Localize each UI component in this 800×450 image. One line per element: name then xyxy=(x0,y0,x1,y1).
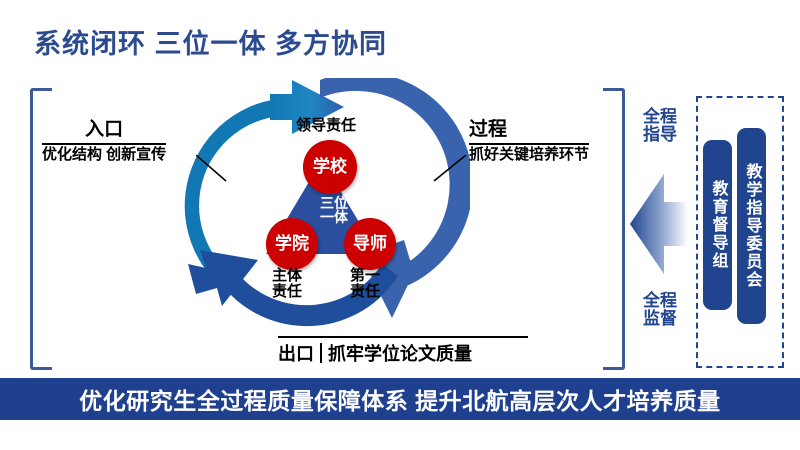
right-bracket xyxy=(603,88,625,370)
node-college[interactable]: 学院 xyxy=(266,218,318,270)
supervision-guidance-line1: 全程 xyxy=(634,108,686,126)
callout-exit-rule xyxy=(278,336,528,338)
node-mentor[interactable]: 导师 xyxy=(344,218,396,270)
callout-process-caption: 过程 xyxy=(469,120,589,141)
supervision-monitoring-line1: 全程 xyxy=(634,292,686,310)
bottom-banner-text: 优化研究生全过程质量保障体系 提升北航高层次人才培养质量 xyxy=(79,382,720,416)
callout-process-leader-line xyxy=(432,155,470,183)
label-subject-responsibility: 主体 责任 xyxy=(272,268,302,300)
callout-exit-divider xyxy=(320,343,322,363)
callout-process: 过程 抓好关键培养环节 xyxy=(469,120,589,163)
label-first-line1: 第一 xyxy=(350,268,380,284)
callout-entrance-caption: 入口 xyxy=(42,120,166,141)
callout-entrance-sub: 优化结构 创新宣传 xyxy=(42,147,166,164)
supervision-left-arrow-icon xyxy=(628,168,690,280)
bottom-banner: 优化研究生全过程质量保障体系 提升北航高层次人才培养质量 xyxy=(0,378,800,420)
page-title: 系统闭环 三位一体 多方协同 xyxy=(34,22,387,61)
triangle-label-line2: 一体 xyxy=(312,210,356,224)
label-subject-line2: 责任 xyxy=(272,284,302,300)
label-leadership-responsibility: 领导责任 xyxy=(296,118,356,134)
slide-canvas: 系统闭环 三位一体 多方协同 xyxy=(0,0,800,450)
node-school[interactable]: 学校 xyxy=(303,140,357,194)
callout-entrance-rule xyxy=(42,143,166,145)
supervision-guidance-line2: 指导 xyxy=(634,126,686,144)
supervision-guidance-label: 全程 指导 xyxy=(634,108,686,145)
label-first-line2: 责任 xyxy=(350,284,380,300)
callout-entrance: 入口 优化结构 创新宣传 xyxy=(42,120,166,163)
callout-exit-caption: 出口 xyxy=(278,340,314,366)
supervision-monitoring-label: 全程 监督 xyxy=(634,292,686,329)
callout-process-sub: 抓好关键培养环节 xyxy=(469,147,589,164)
callout-entrance-leader-line xyxy=(196,155,230,183)
callout-exit: 出口 抓牢学位论文质量 xyxy=(278,336,528,366)
callout-exit-sub: 抓牢学位论文质量 xyxy=(328,340,472,366)
callout-process-rule xyxy=(469,143,589,145)
label-first-responsibility: 第一 责任 xyxy=(350,268,380,300)
triangle-label-line1: 三位 xyxy=(312,196,356,210)
triangle-center-label: 三位 一体 xyxy=(312,196,356,224)
label-subject-line1: 主体 xyxy=(272,268,302,284)
vbox-education-supervision-group[interactable]: 教育督导组 xyxy=(703,140,732,310)
supervision-monitoring-line2: 监督 xyxy=(634,310,686,328)
vbox-teaching-guidance-committee[interactable]: 教学指导委员会 xyxy=(737,128,766,324)
